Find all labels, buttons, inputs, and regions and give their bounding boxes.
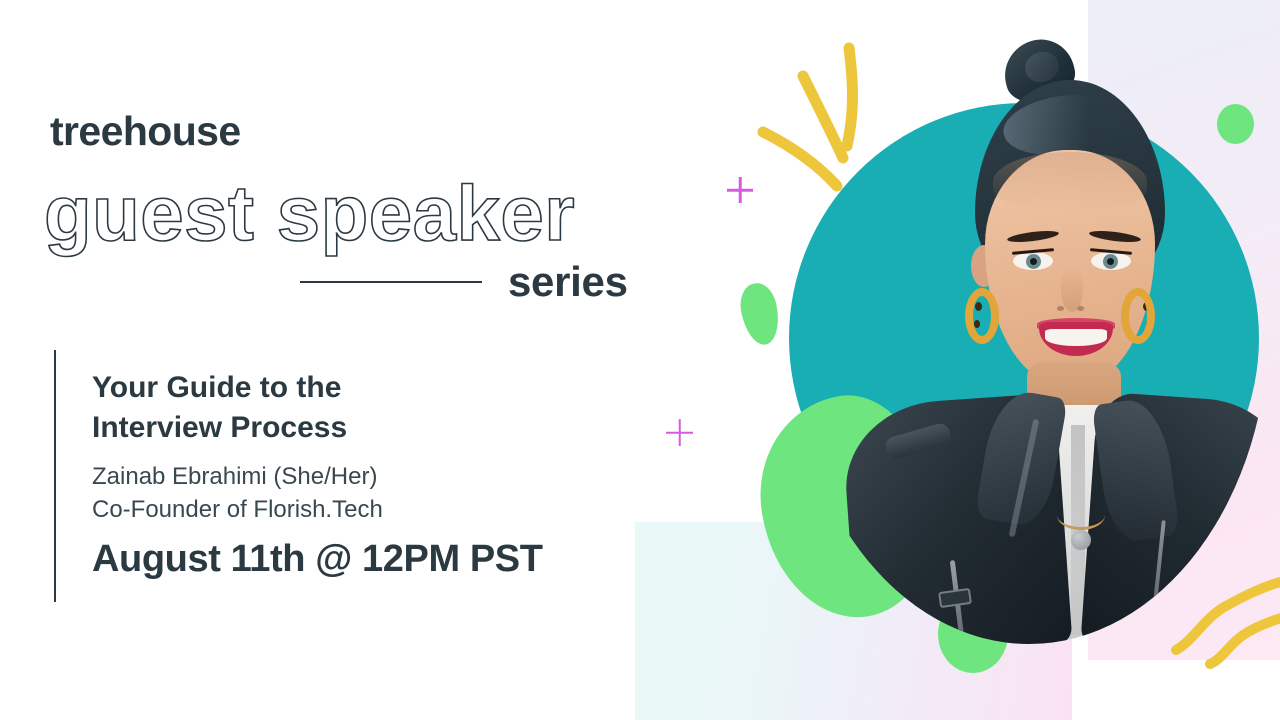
accent-vertical-rule <box>54 350 56 602</box>
earring-right <box>1121 288 1155 344</box>
yellow-wave-strokes <box>1168 572 1280 687</box>
series-row: series <box>300 258 628 306</box>
plus-mark-upper <box>727 177 753 203</box>
brand-wordmark: treehouse <box>50 108 241 155</box>
talk-title-line-1: Your Guide to the <box>92 368 347 408</box>
series-divider-rule <box>300 281 482 283</box>
speaker-role: Co-Founder of Florish.Tech <box>92 493 383 526</box>
speaker-name: Zainab Ebrahimi (She/Her) <box>92 460 383 493</box>
slide-canvas: treehouse guest speaker series Your Guid… <box>0 0 1280 720</box>
plus-mark-lower <box>666 419 693 446</box>
green-blob-small <box>736 280 784 348</box>
speaker-portrait <box>789 0 1269 645</box>
talk-title: Your Guide to the Interview Process <box>92 368 347 447</box>
talk-title-line-2: Interview Process <box>92 408 347 448</box>
speaker-block: Zainab Ebrahimi (She/Her) Co-Founder of … <box>92 460 383 526</box>
series-label: series <box>508 258 628 306</box>
text-column: treehouse guest speaker series Your Guid… <box>0 0 660 720</box>
event-datetime: August 11th @ 12PM PST <box>92 538 543 581</box>
earring-left <box>965 288 999 344</box>
page-title: guest speaker <box>44 168 575 259</box>
